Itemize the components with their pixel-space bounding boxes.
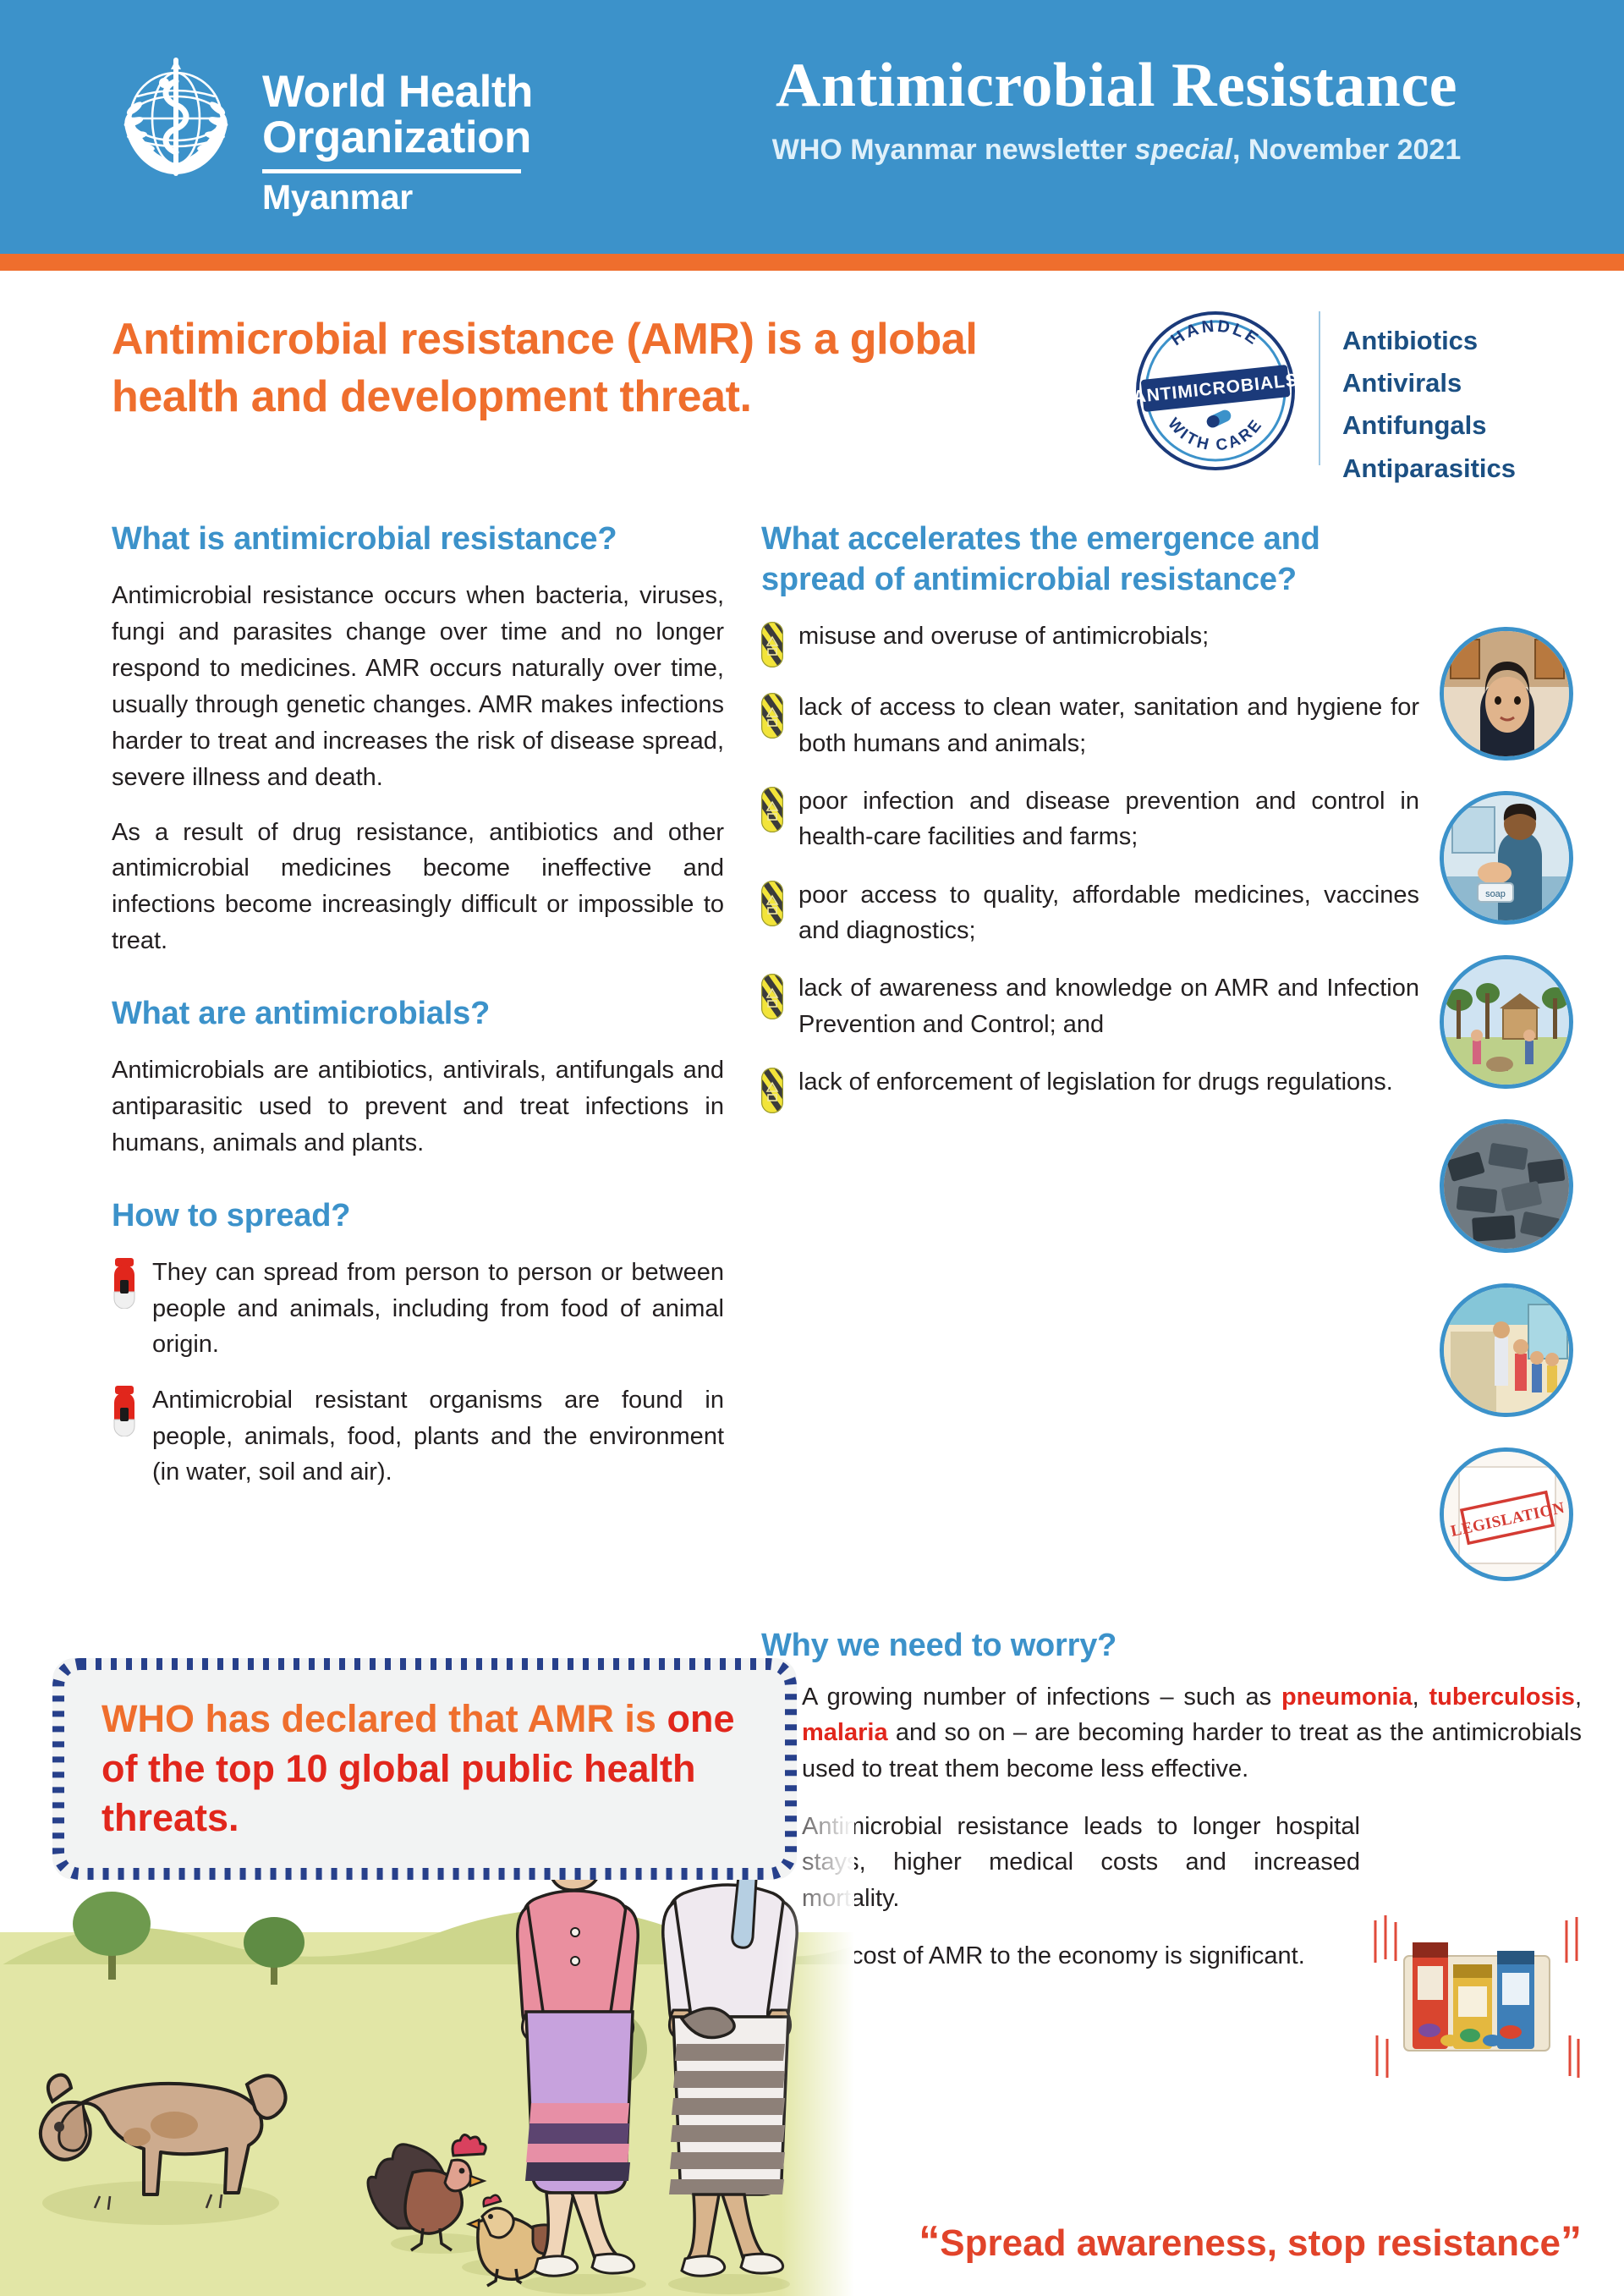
list-item: Antimicrobial resistance leads to longer… [761,1809,1582,1916]
hero-section: Antimicrobial resistance (AMR) is a glob… [0,271,1624,490]
antimicrobial-type-item: Antibiotics [1342,320,1624,362]
page-header: World Health Organization Myanmar Antimi… [0,0,1624,254]
health-education-photo [1440,1283,1573,1417]
tagline-open-quote: “ [919,2217,940,2265]
org-line1: World Health [262,69,533,116]
accelerators-list: misuse and overuse of antimicrobials; [761,618,1419,1113]
disease-tuberculosis: tuberculosis [1429,1684,1575,1711]
antimicrobial-type-item: Antiparasitics [1342,448,1624,490]
list-item-text: poor access to quality, affordable medic… [798,877,1419,949]
list-item: lack of enforcement of legislation for d… [761,1064,1419,1113]
list-item: lack of awareness and knowledge on AMR a… [761,970,1419,1042]
page-title: Antimicrobial Resistance [643,52,1590,118]
section-title-why-worry: Why we need to worry? [761,1625,1582,1666]
list-item: A growing number of infections – such as… [761,1679,1582,1787]
declaration-text-block: WHO has declared that AMR is one of the … [68,1673,782,1865]
illustration-photo-stack: soap [1440,519,1582,1612]
page-subtitle: WHO Myanmar newsletter special, November… [643,134,1590,167]
red-capsule-pill-icon [112,1386,137,1436]
who-wordmark: World Health Organization Myanmar [262,47,533,215]
list-item-text: lack of enforcement of legislation for d… [798,1064,1419,1100]
who-logo-block: World Health Organization Myanmar [0,39,533,215]
who-declaration-callout: WHO has declared that AMR is one of the … [52,1658,797,1880]
worry-sep-2: , [1575,1684,1582,1711]
header-titles: Antimicrobial Resistance WHO Myanmar new… [643,52,1590,167]
list-item: Antimicrobial resistant organisms are fo… [112,1382,724,1490]
antimicrobial-type-item: Antifungals [1342,404,1624,447]
medicines-pile-photo [1440,1119,1573,1253]
antimicrobial-type-item: Antivirals [1342,362,1624,404]
list-item-text: lack of awareness and knowledge on AMR a… [798,970,1419,1042]
handle-antimicrobials-with-care-badge-icon: HANDLE WITH CARE ANTIMICROBIALS [1125,306,1307,475]
campaign-tagline: “Spread awareness, stop resistance” [919,2216,1582,2266]
list-item-text: lack of access to clean water, sanitatio… [798,689,1419,761]
hazard-capsule-pill-icon [761,622,783,667]
list-item-text: Antimicrobial resistant organisms are fo… [152,1382,724,1490]
list-item: poor access to quality, affordable medic… [761,877,1419,949]
country-label: Myanmar [262,179,533,215]
woman-patient-photo [1440,627,1573,761]
hazard-capsule-pill-icon [761,1068,783,1113]
worry-text-post: and so on – are becoming harder to treat… [802,1719,1582,1782]
what-are-antimicrobials-paragraph: Antimicrobials are antibiotics, antivira… [112,1052,724,1162]
tagline-close-quote: ” [1561,2217,1582,2265]
list-item-text: misuse and overuse of antimicrobials; [798,618,1419,654]
section-title-how-to-spread: How to spread? [112,1195,724,1236]
wordmark-divider [262,169,521,173]
subtitle-part-b: , November 2021 [1232,134,1461,166]
section-title-what-is-amr: What is antimicrobial resistance? [112,519,724,559]
hazard-capsule-pill-icon [761,693,783,739]
declaration-line-orange: WHO has declared that AMR is [101,1697,656,1740]
list-item: lack of access to clean water, sanitatio… [761,689,1419,761]
header-accent-rule [0,254,1624,271]
list-item: misuse and overuse of antimicrobials; [761,618,1419,667]
tagline-text: Spread awareness, stop resistance [940,2222,1561,2264]
list-item-text: Antimicrobial resistance leads to longer… [802,1809,1360,1916]
medicines-bottles-illustration [1370,1912,1582,2081]
what-is-amr-paragraph-1: Antimicrobial resistance occurs when bac… [112,578,724,795]
who-emblem-icon [112,47,240,198]
list-item-text: The cost of AMR to the economy is signif… [802,1938,1360,1974]
svg-text:soap: soap [1485,889,1506,899]
section-title-what-are-antimicrobials: What are antimicrobials? [112,993,724,1034]
red-capsule-pill-icon [112,1258,137,1309]
hero-divider [1319,311,1320,465]
list-item-text: They can spread from person to person or… [152,1255,724,1362]
legislation-stamp-photo: LEGISLATION [1440,1447,1573,1581]
subtitle-part-a: WHO Myanmar newsletter [772,134,1135,166]
list-item-text: poor infection and disease prevention an… [798,783,1419,855]
worry-text-pre: A growing number of infections – such as [802,1684,1281,1711]
accelerators-text: What accelerates the emergence and sprea… [761,519,1440,1612]
hazard-capsule-pill-icon [761,787,783,832]
disease-malaria: malaria [802,1719,888,1746]
antimicrobial-types-list: Antibiotics Antivirals Antifungals Antip… [1342,311,1624,490]
list-item-text: A growing number of infections – such as… [802,1679,1582,1787]
org-line2: Organization [262,115,533,162]
declaration-text: WHO has declared that AMR is one of the … [101,1695,748,1843]
handwashing-photo: soap [1440,791,1573,925]
newsletter-page: World Health Organization Myanmar Antimi… [0,0,1624,2296]
farm-village-photo [1440,955,1573,1089]
what-is-amr-paragraph-2: As a result of drug resistance, antibiot… [112,815,724,960]
hero-headline-block: Antimicrobial resistance (AMR) is a glob… [0,311,1125,426]
right-column: What accelerates the emergence and sprea… [761,519,1624,2014]
list-item: They can spread from person to person or… [112,1255,724,1362]
hazard-capsule-pill-icon [761,881,783,926]
disease-pneumonia: pneumonia [1281,1684,1413,1711]
list-item: poor infection and disease prevention an… [761,783,1419,855]
how-to-spread-list: They can spread from person to person or… [112,1255,724,1490]
worry-sep-1: , [1413,1684,1429,1711]
hazard-capsule-pill-icon [761,974,783,1019]
subtitle-special: special [1135,134,1232,166]
section-title-what-accelerates: What accelerates the emergence and sprea… [761,519,1419,601]
accelerators-block: What accelerates the emergence and sprea… [761,519,1582,1612]
hero-headline: Antimicrobial resistance (AMR) is a glob… [112,311,1108,426]
